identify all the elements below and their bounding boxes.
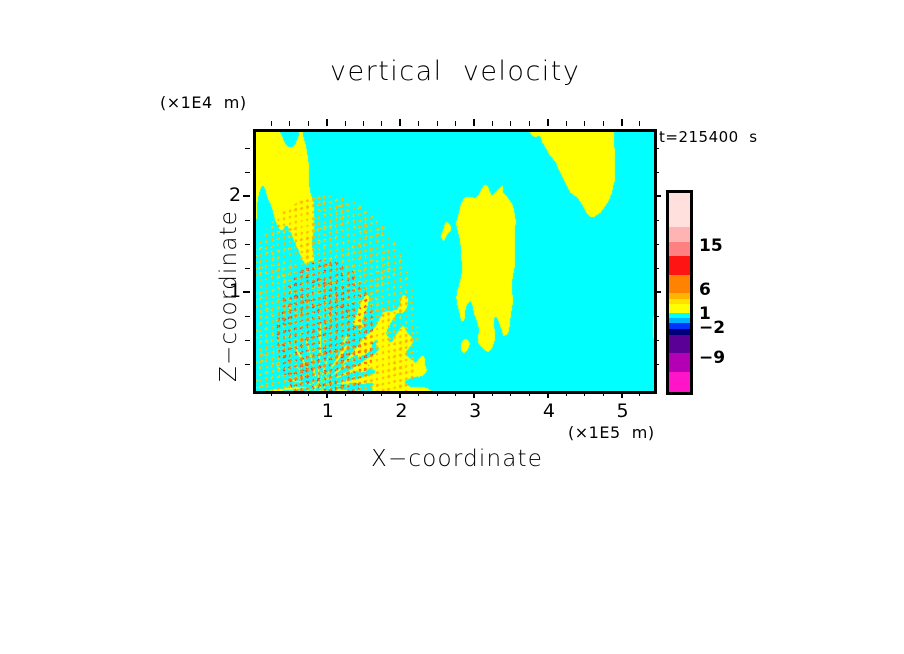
x-axis-minor-tick xyxy=(363,391,364,396)
y-tick-label: 1 xyxy=(229,280,241,302)
x-tick-label: 1 xyxy=(322,400,334,422)
colorbar-tick-label: 15 xyxy=(699,236,723,256)
colorbar-band xyxy=(669,335,690,353)
x-tick-label: 5 xyxy=(617,400,629,422)
x-axis-minor-tick xyxy=(345,391,346,396)
x-axis-minor-tick-top xyxy=(639,121,640,126)
colorbar-band xyxy=(669,242,690,256)
x-axis-major-tick-top xyxy=(399,119,401,126)
colorbar-band xyxy=(669,353,690,372)
x-axis-units-label: (×1E5 m) xyxy=(568,423,655,442)
y-axis-minor-tick-right xyxy=(654,316,659,317)
x-axis-minor-tick xyxy=(455,391,456,396)
velocity-field-heatmap xyxy=(256,132,654,391)
x-axis-minor-tick xyxy=(603,391,604,396)
x-axis-minor-tick-top xyxy=(566,121,567,126)
y-axis-major-tick xyxy=(243,195,250,197)
y-axis-major-tick-right xyxy=(654,291,661,293)
x-axis-minor-tick-top xyxy=(289,121,290,126)
y-axis-minor-tick-right xyxy=(654,172,659,173)
timestamp-label: t=215400 s xyxy=(659,128,758,146)
x-axis-major-tick-top xyxy=(326,119,328,126)
y-axis-minor-tick xyxy=(245,316,250,317)
x-axis-minor-tick-top xyxy=(510,121,511,126)
figure-canvas: vertical velocity (×1E4 m) t=215400 s Z−… xyxy=(0,0,904,654)
x-axis-minor-tick-top xyxy=(584,121,585,126)
colorbar-tick-label: −2 xyxy=(699,318,725,338)
x-axis-minor-tick-top xyxy=(455,121,456,126)
y-axis-minor-tick xyxy=(245,148,250,149)
y-axis-minor-tick xyxy=(245,340,250,341)
x-axis-major-tick xyxy=(547,391,549,398)
y-axis-minor-tick xyxy=(245,364,250,365)
x-axis-minor-tick xyxy=(639,391,640,396)
x-axis-minor-tick xyxy=(492,391,493,396)
colorbar xyxy=(666,190,693,395)
y-axis-minor-tick-right xyxy=(654,268,659,269)
y-axis-major-tick xyxy=(243,291,250,293)
colorbar-tick-label: 6 xyxy=(699,280,711,300)
x-tick-label: 4 xyxy=(543,400,555,422)
colorbar-band xyxy=(669,275,690,294)
x-axis-minor-tick xyxy=(308,391,309,396)
x-axis-major-tick xyxy=(473,391,475,398)
x-axis-major-tick-top xyxy=(621,119,623,126)
colorbar-band xyxy=(669,256,690,275)
x-axis-minor-tick-top xyxy=(437,121,438,126)
x-axis-major-tick-top xyxy=(473,119,475,126)
x-axis-minor-tick xyxy=(584,391,585,396)
y-axis-minor-tick xyxy=(245,244,250,245)
x-axis-minor-tick xyxy=(510,391,511,396)
x-axis-minor-tick-top xyxy=(308,121,309,126)
plot-area xyxy=(253,129,657,394)
x-axis-major-tick xyxy=(621,391,623,398)
colorbar-tick-label: −9 xyxy=(699,348,725,368)
page-title: vertical velocity xyxy=(330,56,580,87)
y-axis-minor-tick-right xyxy=(654,364,659,365)
x-axis-minor-tick xyxy=(289,391,290,396)
x-axis-major-tick xyxy=(326,391,328,398)
colorbar-band xyxy=(669,193,690,227)
x-axis-minor-tick-top xyxy=(603,121,604,126)
x-axis-minor-tick xyxy=(529,391,530,396)
x-axis-minor-tick xyxy=(418,391,419,396)
colorbar-band xyxy=(669,304,690,313)
colorbar-band xyxy=(669,372,690,392)
x-axis-minor-tick-top xyxy=(271,121,272,126)
x-axis-major-tick xyxy=(399,391,401,398)
x-axis-minor-tick xyxy=(566,391,567,396)
y-tick-label: 2 xyxy=(229,184,241,206)
y-axis-minor-tick xyxy=(245,172,250,173)
x-axis-minor-tick-top xyxy=(345,121,346,126)
x-axis-minor-tick xyxy=(271,391,272,396)
x-axis-minor-tick xyxy=(381,391,382,396)
y-axis-minor-tick xyxy=(245,220,250,221)
y-axis-minor-tick-right xyxy=(654,340,659,341)
x-tick-label: 2 xyxy=(395,400,407,422)
colorbar-band xyxy=(669,227,690,242)
y-axis-minor-tick xyxy=(245,268,250,269)
z-axis-units-label: (×1E4 m) xyxy=(160,93,247,112)
y-axis-minor-tick-right xyxy=(654,148,659,149)
x-tick-label: 3 xyxy=(469,400,481,422)
x-axis-minor-tick-top xyxy=(381,121,382,126)
x-axis-minor-tick-top xyxy=(418,121,419,126)
x-axis-minor-tick-top xyxy=(492,121,493,126)
x-axis-minor-tick xyxy=(437,391,438,396)
y-axis-minor-tick-right xyxy=(654,244,659,245)
y-axis-major-tick-right xyxy=(654,195,661,197)
x-axis-minor-tick-top xyxy=(529,121,530,126)
y-axis-minor-tick-right xyxy=(654,220,659,221)
x-axis-major-tick-top xyxy=(547,119,549,126)
x-axis-minor-tick-top xyxy=(363,121,364,126)
x-axis-title: X−coordinate xyxy=(371,446,543,472)
